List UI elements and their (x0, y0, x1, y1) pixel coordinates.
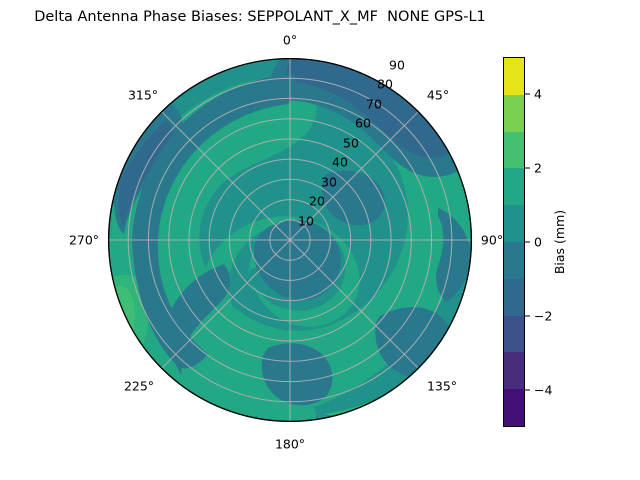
colorbar-band-4 (504, 242, 524, 279)
angle-label-225: 225° (124, 379, 154, 394)
angle-label-315: 315° (128, 88, 158, 103)
colorbar-band-2 (504, 316, 524, 353)
colorbar-band-7 (504, 132, 524, 169)
colorbar-band-9 (504, 58, 524, 95)
angle-label-0: 0° (283, 33, 297, 48)
colorbar-tick-m4 (525, 390, 530, 391)
colorbar-tick-m2 (525, 316, 530, 317)
colorbar-tick-4 (525, 94, 530, 95)
radial-label-20: 20 (309, 194, 325, 209)
colorbar-tick-label-4: 4 (534, 87, 542, 102)
colorbar-band-8 (504, 95, 524, 132)
colorbar-tick-label-0: 0 (534, 235, 542, 250)
angle-label-180: 180° (275, 437, 305, 452)
colorbar-tick-2 (525, 168, 530, 169)
radial-label-70: 70 (366, 97, 382, 112)
figure-canvas: Delta Antenna Phase Biases: SEPPOLANT_X_… (0, 0, 640, 480)
page-title: Delta Antenna Phase Biases: SEPPOLANT_X_… (0, 9, 520, 25)
radial-label-10: 10 (298, 214, 314, 229)
colorbar-tick-label-m2: −2 (534, 309, 552, 324)
radial-label-60: 60 (355, 116, 371, 131)
radial-label-50: 50 (343, 136, 359, 151)
colorbar-band-1 (504, 352, 524, 389)
polar-gridlines (108, 58, 472, 422)
colorbar-tick-label-m4: −4 (534, 383, 552, 398)
angle-label-270: 270° (69, 233, 99, 248)
polar-contour-svg (108, 58, 472, 422)
radial-label-40: 40 (332, 155, 348, 170)
colorbar-gradient (503, 57, 525, 427)
colorbar-band-6 (504, 168, 524, 205)
radial-label-80: 80 (377, 77, 393, 92)
colorbar-tick-label-2: 2 (534, 161, 542, 176)
colorbar-band-0 (504, 389, 524, 426)
angle-label-135: 135° (427, 379, 457, 394)
angle-label-90: 90° (481, 233, 503, 248)
colorbar-tick-0 (525, 242, 530, 243)
angle-label-45: 45° (427, 88, 449, 103)
polar-plot[interactable]: 0° 45° 90° 135° 180° 225° 270° 315° 10 2… (108, 58, 472, 422)
radial-label-90: 90 (389, 58, 405, 73)
colorbar-band-3 (504, 279, 524, 316)
radial-label-30: 30 (321, 175, 337, 190)
colorbar-band-5 (504, 205, 524, 242)
colorbar[interactable]: 4 2 0 −2 −4 (503, 57, 525, 427)
colorbar-axis-label: Bias (mm) (552, 210, 567, 274)
